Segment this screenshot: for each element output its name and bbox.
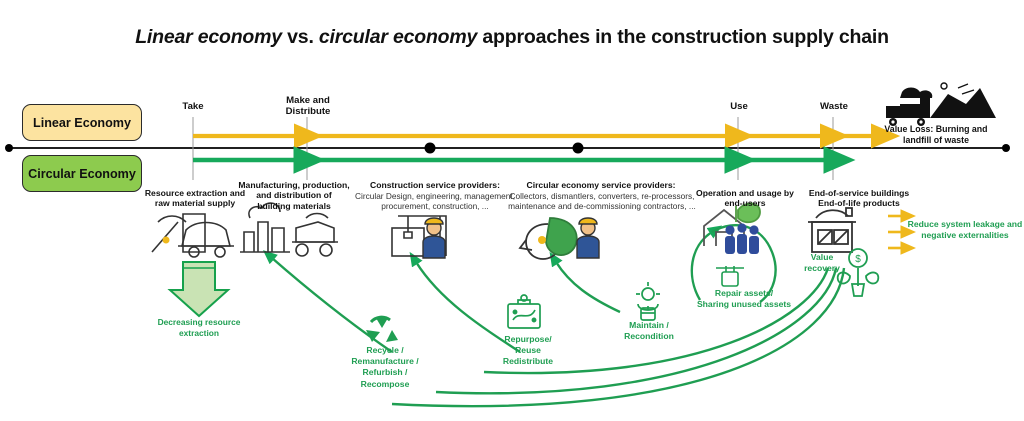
title-part-circular: circular economy xyxy=(319,26,477,48)
page-title: Linear economy vs. circular economy appr… xyxy=(0,26,1024,49)
svg-text:$: $ xyxy=(855,254,861,265)
legend-linear-label: Linear Economy xyxy=(33,116,131,130)
maintain-gear-icon xyxy=(636,282,660,320)
eco-house-icon xyxy=(704,203,760,246)
caption-recycle-loop: Recycle / Remanufacture / Refurbish / Re… xyxy=(329,345,441,390)
repair-tool-icon xyxy=(716,266,744,286)
milestone-waste: Waste xyxy=(803,101,865,112)
garbage-truck-waste-icon xyxy=(886,83,996,126)
stage-circular-services-sub: Collectors, dismantlers, converters, re-… xyxy=(496,191,708,212)
stage-end-of-life: End-of-service buildings End-of-life pro… xyxy=(802,188,916,209)
dump-truck-icon xyxy=(292,214,338,257)
legend-circular-label: Circular Economy xyxy=(28,167,136,181)
construction-worker-icon xyxy=(423,218,445,258)
stage-use-phase: Operation and usage by end-users xyxy=(690,188,800,209)
milestone-use: Use xyxy=(710,101,768,112)
down-arrow-icon xyxy=(170,262,228,316)
construction-worker-icon xyxy=(577,218,599,258)
diagram-canvas: Linear economy vs. circular economy appr… xyxy=(0,0,1024,421)
building-icon xyxy=(808,208,856,252)
baseline-axis xyxy=(5,143,1010,154)
caption-decreasing-resource: Decreasing resource extraction xyxy=(143,317,255,338)
crane-construction-icon xyxy=(392,216,446,256)
stage-construction-services-head: Construction service providers: xyxy=(360,180,510,190)
milestone-ticks xyxy=(193,117,833,180)
caption-value-recovery: Value recovery xyxy=(796,252,848,274)
people-group-icon xyxy=(725,223,759,254)
mine-cart-icon xyxy=(178,223,234,258)
leakage-arrows xyxy=(888,216,903,248)
caption-repair-loop: Repair assets/ Sharing unused assets xyxy=(688,288,800,310)
value-loss-note: Value Loss: Burning and landfill of wast… xyxy=(866,124,1006,146)
title-part-tail: approaches in the construction supply ch… xyxy=(477,26,889,48)
milestone-take: Take xyxy=(163,101,223,112)
caption-repurpose-loop: Repurpose/ Reuse Redistribute xyxy=(484,334,572,368)
title-part-linear: Linear economy xyxy=(135,26,282,48)
legend-circular-economy[interactable]: Circular Economy xyxy=(22,155,142,192)
legend-linear-economy[interactable]: Linear Economy xyxy=(22,104,142,141)
caption-reduce-leakage: Reduce system leakage and negative exter… xyxy=(906,219,1024,241)
milestone-make-and-distribute: Make and Distribute xyxy=(272,95,344,117)
stage-resource-extraction: Resource extraction and raw material sup… xyxy=(138,188,252,209)
title-part-vs: vs. xyxy=(282,26,319,48)
mining-pick-icon xyxy=(152,214,205,252)
caption-maintain-loop: Maintain / Recondition xyxy=(608,320,690,342)
recycle-leaf-icon xyxy=(520,218,577,259)
repurpose-board-icon xyxy=(508,295,540,328)
recycle-arrows-icon xyxy=(366,317,398,342)
stage-circular-services-head: Circular economy service providers: xyxy=(508,180,694,190)
